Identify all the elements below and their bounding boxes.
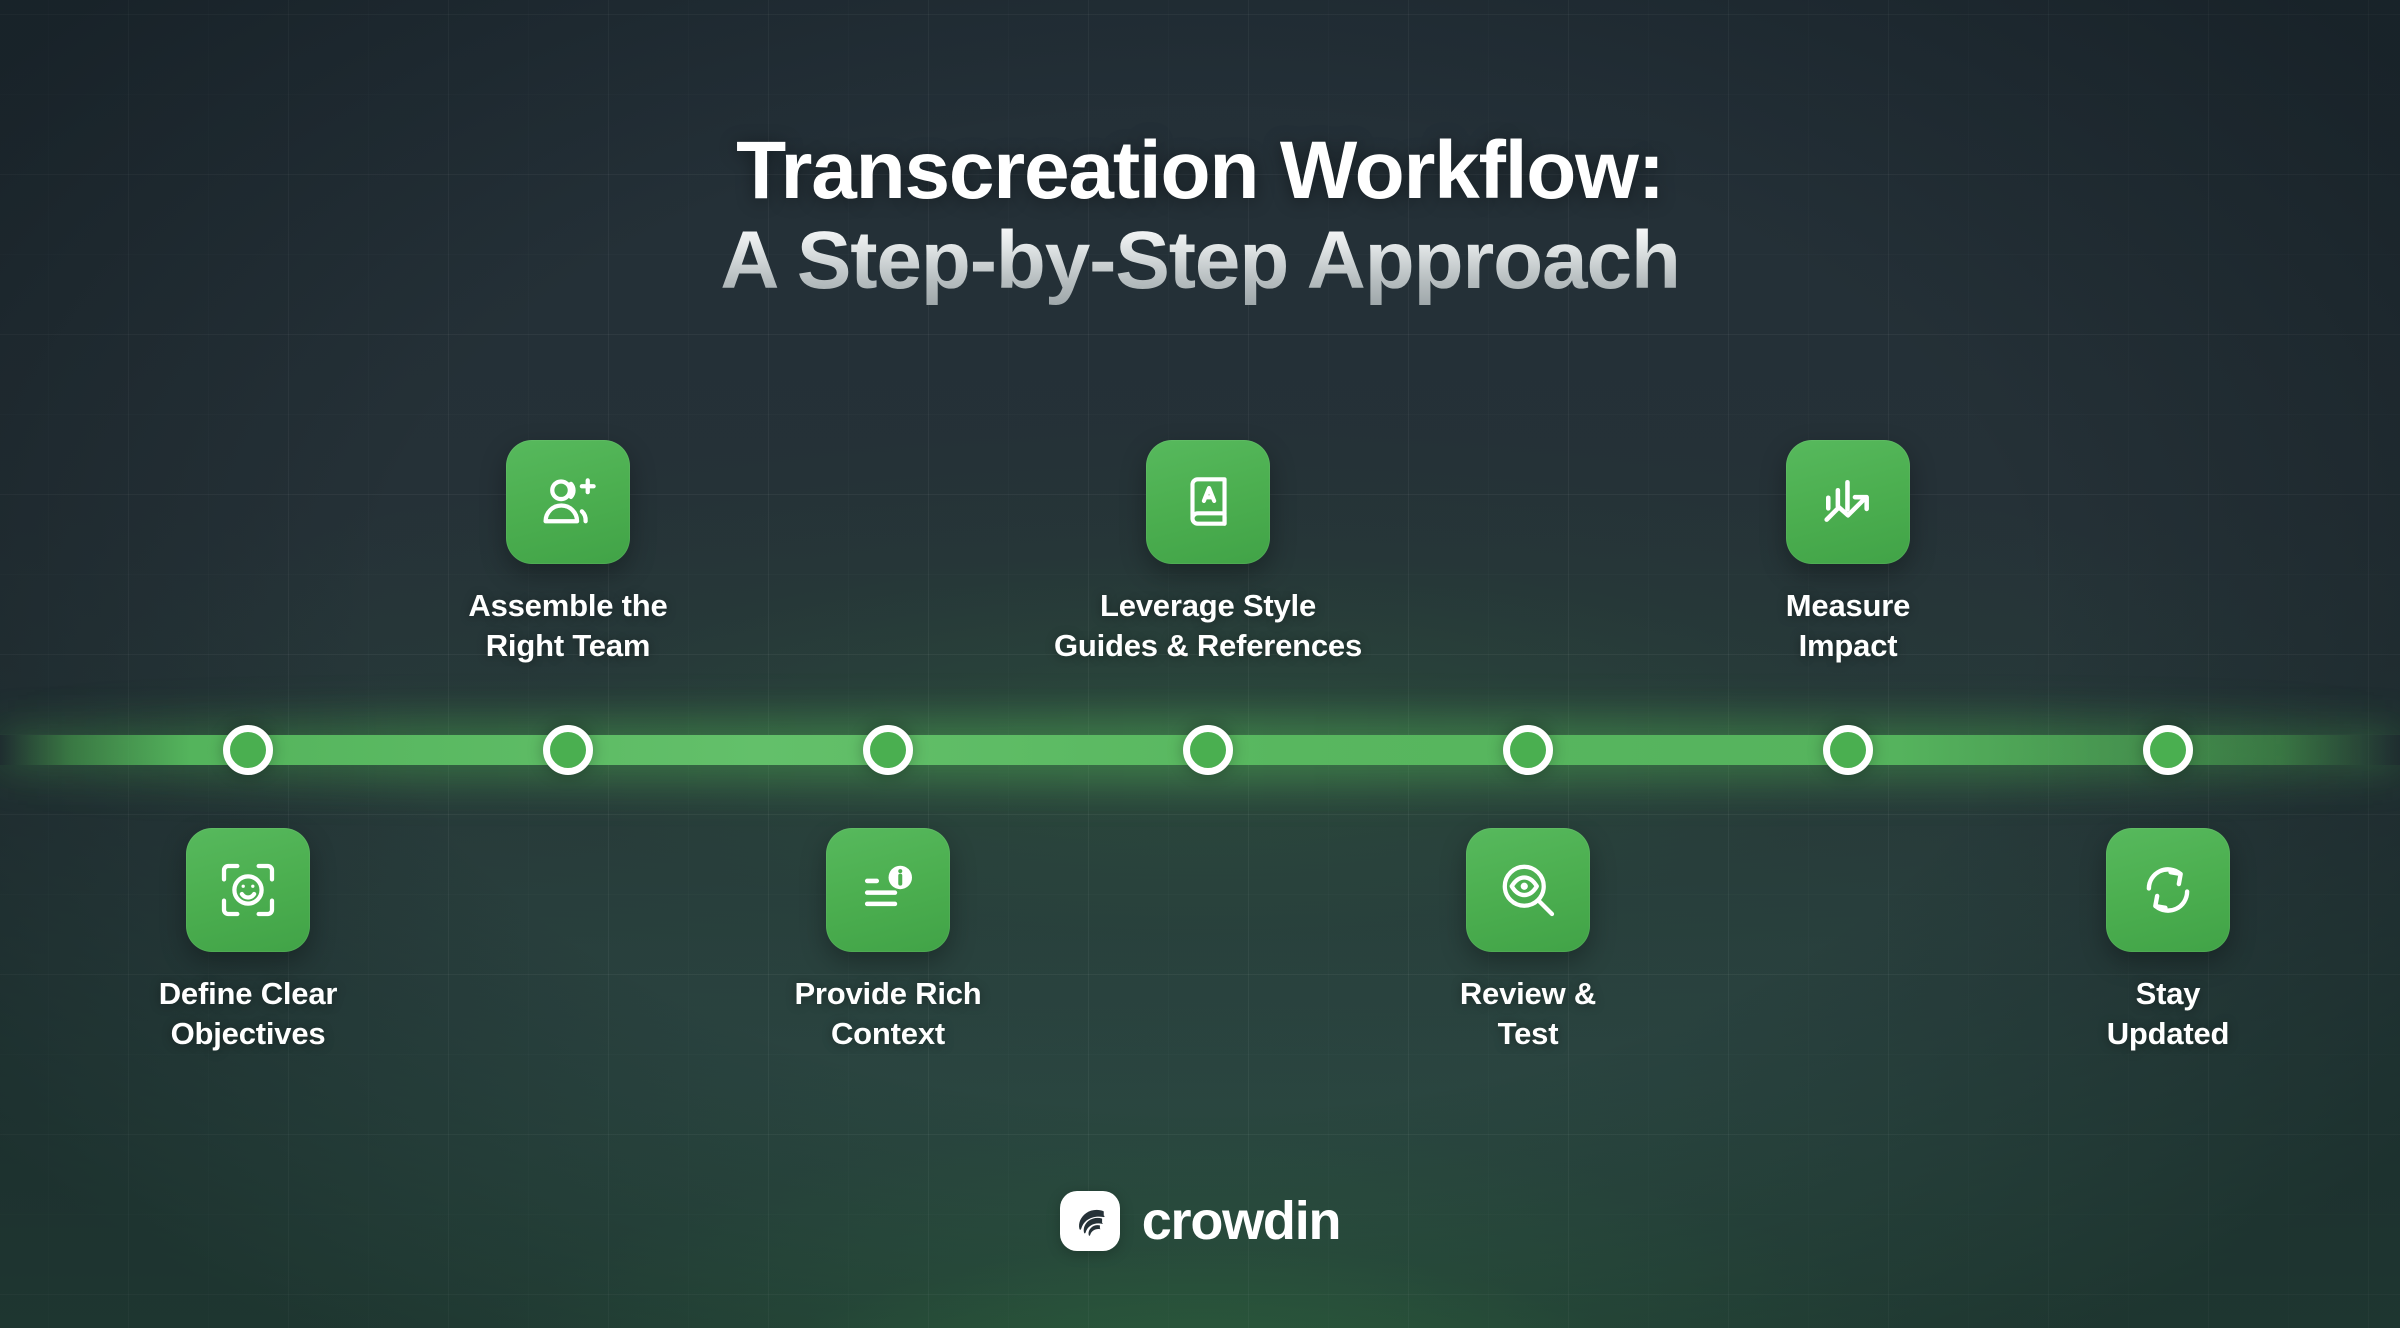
step-icon-tile xyxy=(1466,828,1590,952)
step-assemble-the-right-team[interactable]: Assemble the Right Team xyxy=(388,440,748,667)
infographic-canvas: Transcreation Workflow: A Step-by-Step A… xyxy=(0,0,2400,1328)
timeline-node-3[interactable] xyxy=(863,725,913,775)
timeline-node-7[interactable] xyxy=(2143,725,2193,775)
refresh-cycle-icon xyxy=(2137,859,2199,921)
step-label-line-2: Right Team xyxy=(388,626,748,666)
face-scan-icon xyxy=(216,858,280,922)
timeline-node-1[interactable] xyxy=(223,725,273,775)
step-label-line-1: Provide Rich xyxy=(794,976,981,1011)
step-caption: Assemble the Right Team xyxy=(388,586,748,667)
step-icon-tile xyxy=(826,828,950,952)
step-icon-tile xyxy=(2106,828,2230,952)
timeline-node-5[interactable] xyxy=(1503,725,1553,775)
step-label-line-1: Review & xyxy=(1460,976,1596,1011)
step-caption: Provide Rich Context xyxy=(708,974,1068,1055)
step-label-line-2: Objectives xyxy=(68,1014,428,1054)
bar-chart-arrow-up-icon xyxy=(1816,470,1880,534)
crowdin-logo-mark xyxy=(1060,1191,1120,1251)
step-icon-tile xyxy=(186,828,310,952)
eye-magnifier-icon xyxy=(1496,858,1560,922)
step-label-line-1: Define Clear xyxy=(159,976,338,1011)
title-line-2: A Step-by-Step Approach xyxy=(0,213,2400,310)
step-label-line-1: Assemble the xyxy=(468,588,667,623)
timeline-node-4[interactable] xyxy=(1183,725,1233,775)
step-provide-rich-context[interactable]: Provide Rich Context xyxy=(708,828,1068,1055)
user-plus-icon xyxy=(536,470,600,534)
step-label-line-1: Measure xyxy=(1786,588,1910,623)
crowdin-wordmark: crowdin xyxy=(1142,1190,1341,1252)
step-label-line-2: Updated xyxy=(1988,1014,2348,1054)
step-label-line-2: Impact xyxy=(1668,626,2028,666)
step-label-line-2: Test xyxy=(1348,1014,1708,1054)
step-icon-tile xyxy=(1786,440,1910,564)
step-caption: Measure Impact xyxy=(1668,586,2028,667)
step-measure-impact[interactable]: Measure Impact xyxy=(1668,440,2028,667)
step-label-line-2: Context xyxy=(708,1014,1068,1054)
timeline-node-2[interactable] xyxy=(543,725,593,775)
step-icon-tile xyxy=(1146,440,1270,564)
page-title: Transcreation Workflow: A Step-by-Step A… xyxy=(0,128,2400,310)
step-define-clear-objectives[interactable]: Define Clear Objectives xyxy=(68,828,428,1055)
step-label-line-1: Stay xyxy=(2136,976,2201,1011)
step-caption: Stay Updated xyxy=(1988,974,2348,1055)
step-caption: Leverage Style Guides & References xyxy=(1028,586,1388,667)
crowdin-logo[interactable]: crowdin xyxy=(0,1190,2400,1252)
step-icon-tile xyxy=(506,440,630,564)
step-review-and-test[interactable]: Review & Test xyxy=(1348,828,1708,1055)
step-caption: Define Clear Objectives xyxy=(68,974,428,1055)
step-label-line-1: Leverage Style xyxy=(1100,588,1316,623)
step-stay-updated[interactable]: Stay Updated xyxy=(1988,828,2348,1055)
step-leverage-style-guides-and-references[interactable]: Leverage Style Guides & References xyxy=(1028,440,1388,667)
book-letter-a-icon xyxy=(1177,471,1239,533)
step-caption: Review & Test xyxy=(1348,974,1708,1055)
timeline-node-6[interactable] xyxy=(1823,725,1873,775)
step-label-line-2: Guides & References xyxy=(1028,626,1388,666)
title-line-1: Transcreation Workflow: xyxy=(0,128,2400,213)
document-info-icon xyxy=(856,858,920,922)
